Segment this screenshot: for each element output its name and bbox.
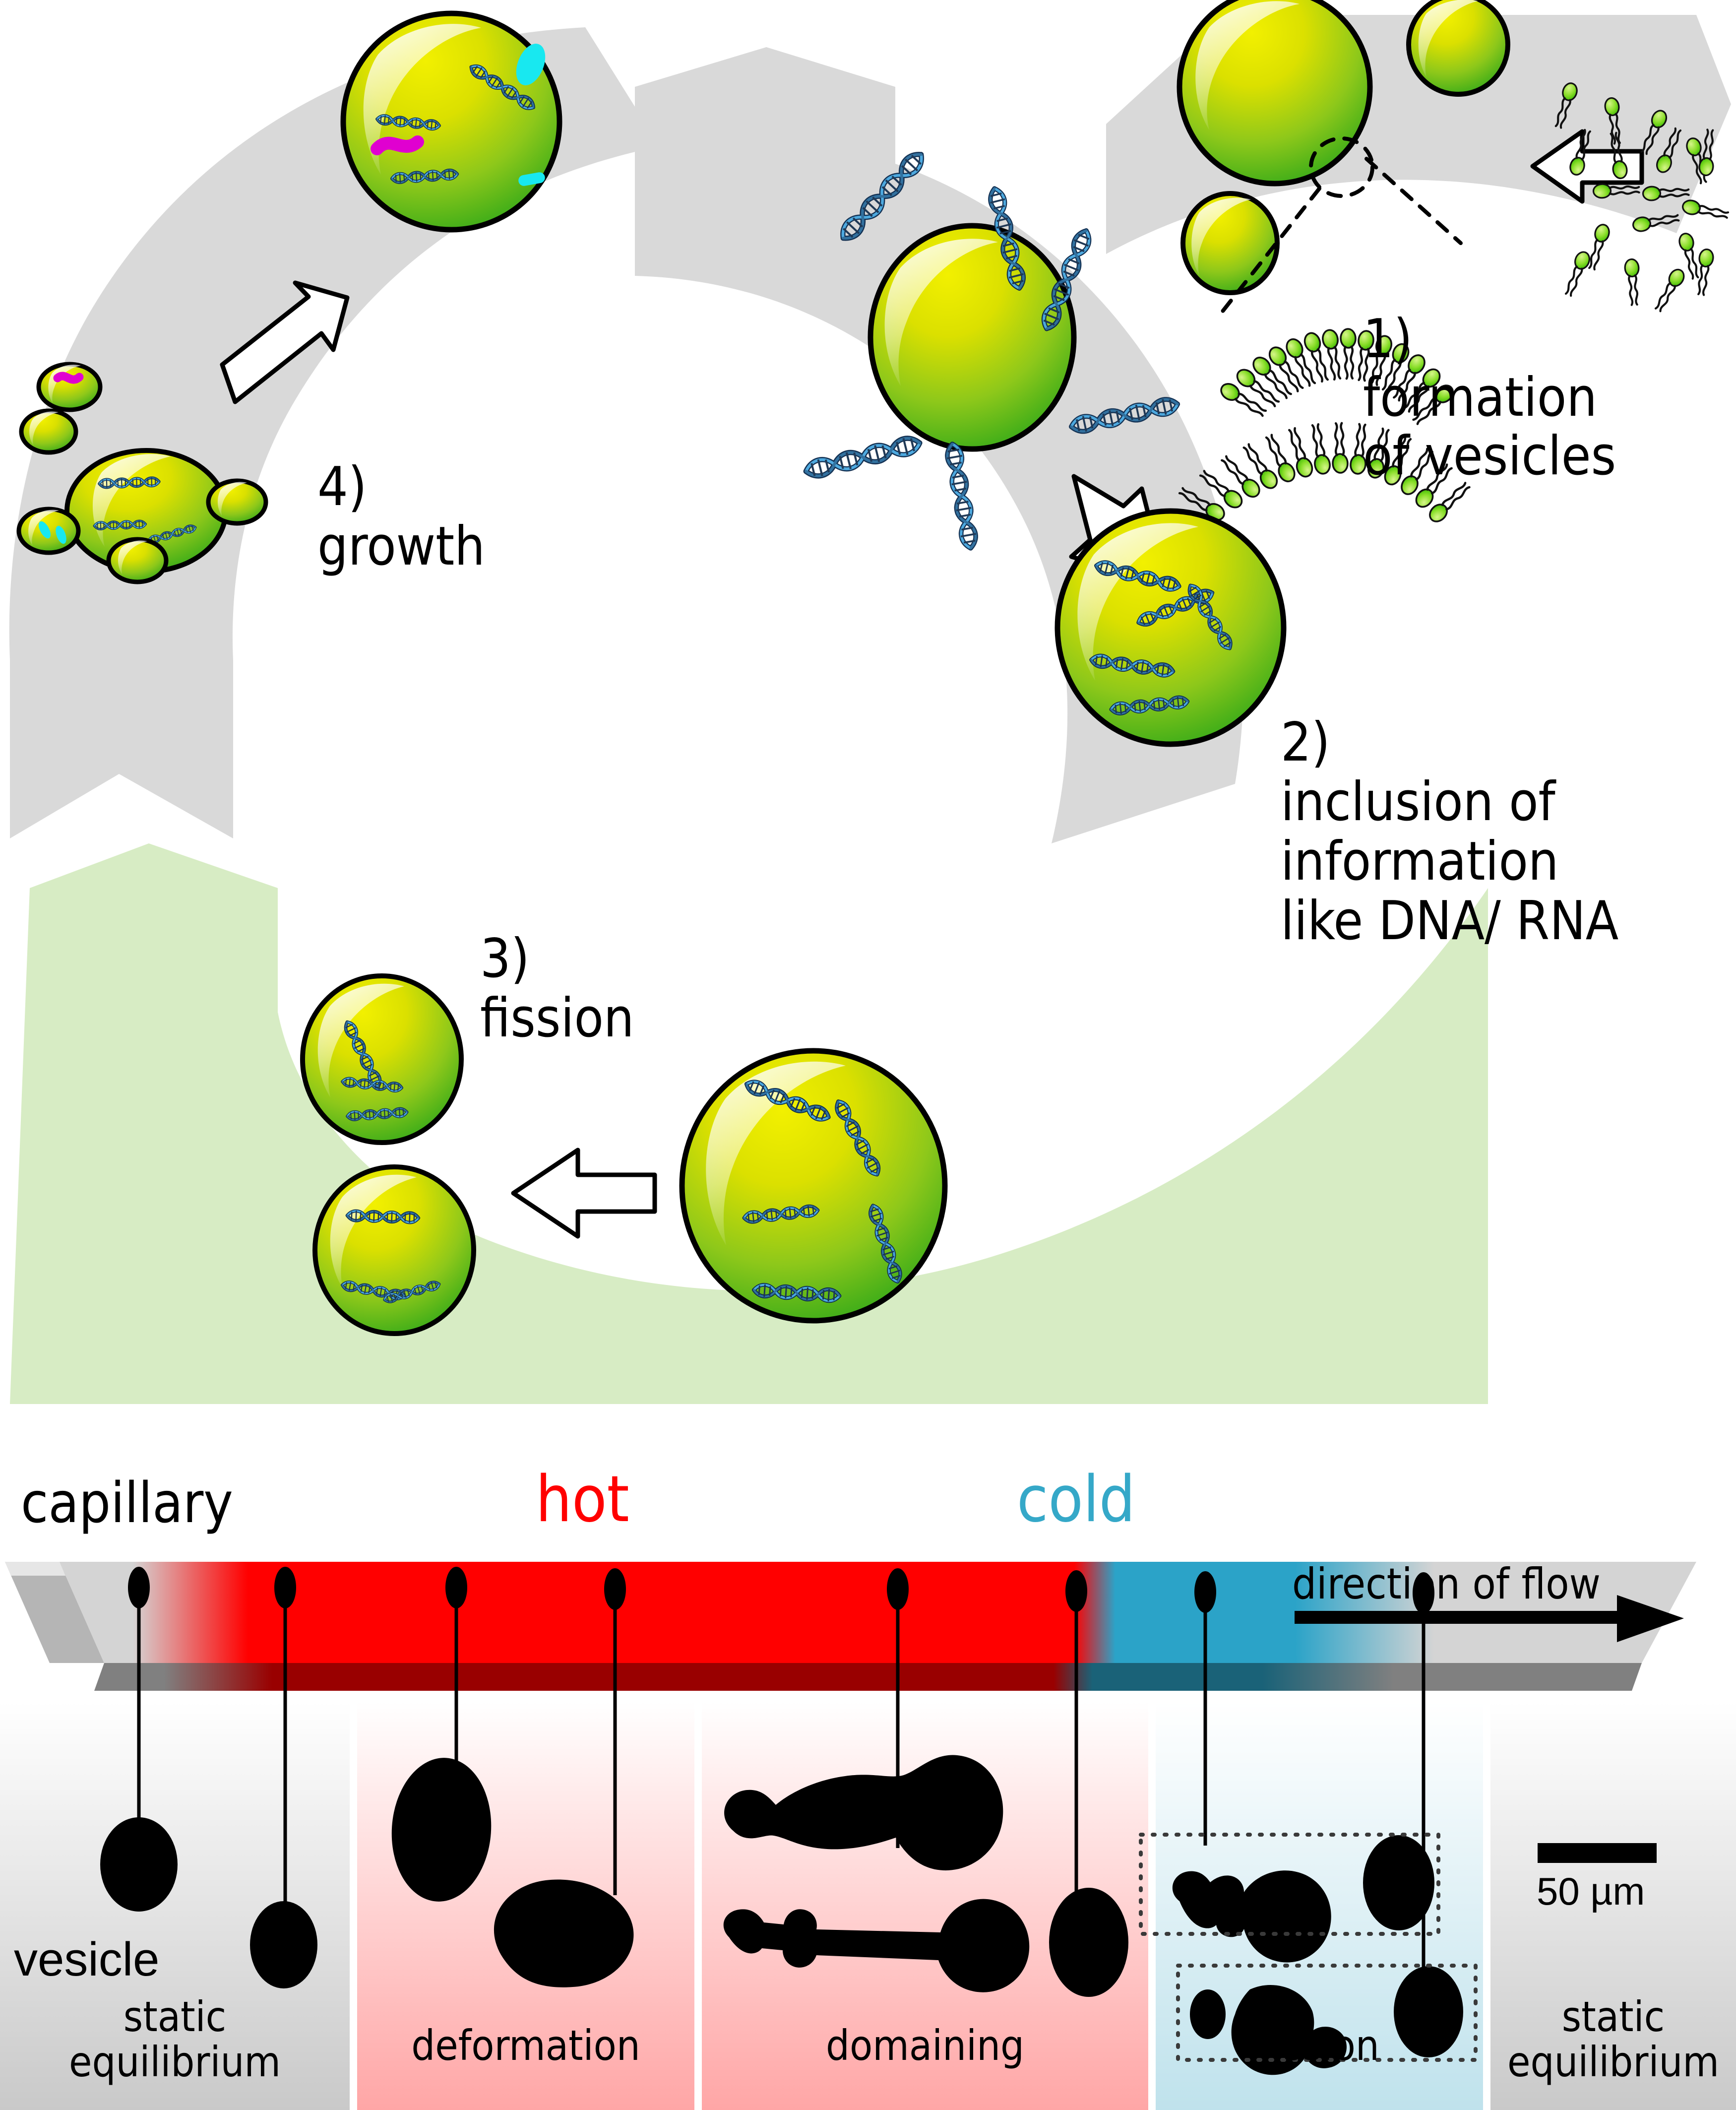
vesicle-grown [343,13,559,230]
capillary-front-edge [94,1663,1642,1691]
zone-label-static-right-line1: static [1490,1994,1736,2040]
step-4-number: 4) [317,459,367,515]
step-1-line-1: formation [1363,370,1597,426]
step-2-number: 2) [1281,714,1330,770]
vesicle-dna-binding [870,226,1074,449]
cold-label: cold [1017,1467,1135,1533]
step-1-line-2: of vesicles [1363,428,1616,484]
vesicle-parent-fission [682,1051,945,1321]
vesicle-satellite-1 [39,364,100,410]
silhouette-domain-3 [1049,1888,1128,1997]
vesicle-satellite-4 [109,539,166,582]
step-2-line-2: information [1281,833,1559,890]
step-2-line-1: inclusion of [1281,774,1555,830]
vesicle-with-dna [1057,511,1284,744]
step-4-line-1: growth [317,518,485,575]
scale-bar-label: 50 µm [1537,1871,1645,1912]
silhouette-static-1 [100,1817,178,1912]
zone-label-static-left: static equilibrium [0,1994,350,2084]
zone-label-static-right: static equilibrium [1490,1994,1736,2084]
vesicle-satellite-3 [19,509,78,553]
vesicle-medium-formation [1409,0,1508,94]
silhouette-fission-2 [1363,1835,1434,1930]
step-2-line-3: like DNA/ RNA [1281,893,1618,949]
step-3-line-1: fission [480,990,634,1046]
vesicle-daughter-lower [315,1167,474,1334]
arc-growth [9,27,660,838]
vesicle-daughter-upper [303,976,461,1143]
vesicle-satellite-2 [21,411,76,452]
flow-direction-label: direction of flow [1292,1562,1601,1606]
zone-label-domaining: domaining [702,2023,1148,2068]
capillary-label: capillary [21,1474,233,1533]
step-3-number: 3) [480,931,530,987]
zone-label-domaining-line1: domaining [702,2023,1148,2068]
vesicle-label: vesicle [14,1935,159,1985]
zone-label-static-left-line1: static [0,1994,350,2040]
zone-label-deformation-line1: deformation [357,2023,694,2068]
step-1-number: 1) [1363,311,1413,367]
scale-bar [1538,1843,1657,1863]
vesicle-large-formation [1179,0,1370,184]
zone-label-fission: fission [1156,2023,1483,2068]
zone-label-static-right-line2: equilibrium [1490,2040,1736,2085]
hot-label: hot [536,1467,629,1533]
silhouette-static-2 [250,1901,317,1988]
figure-root: 1) formation of vesicles 2) inclusion of… [0,0,1736,2110]
figure-canvas [0,0,1736,2110]
vesicle-small-formation [1183,193,1277,293]
vesicle-satellite-5 [208,481,266,523]
capillary-side-top [5,1562,65,1576]
zone-label-static-left-line2: equilibrium [0,2040,350,2085]
zone-label-fission-line1: fission [1156,2023,1483,2068]
zone-label-deformation: deformation [357,2023,694,2068]
